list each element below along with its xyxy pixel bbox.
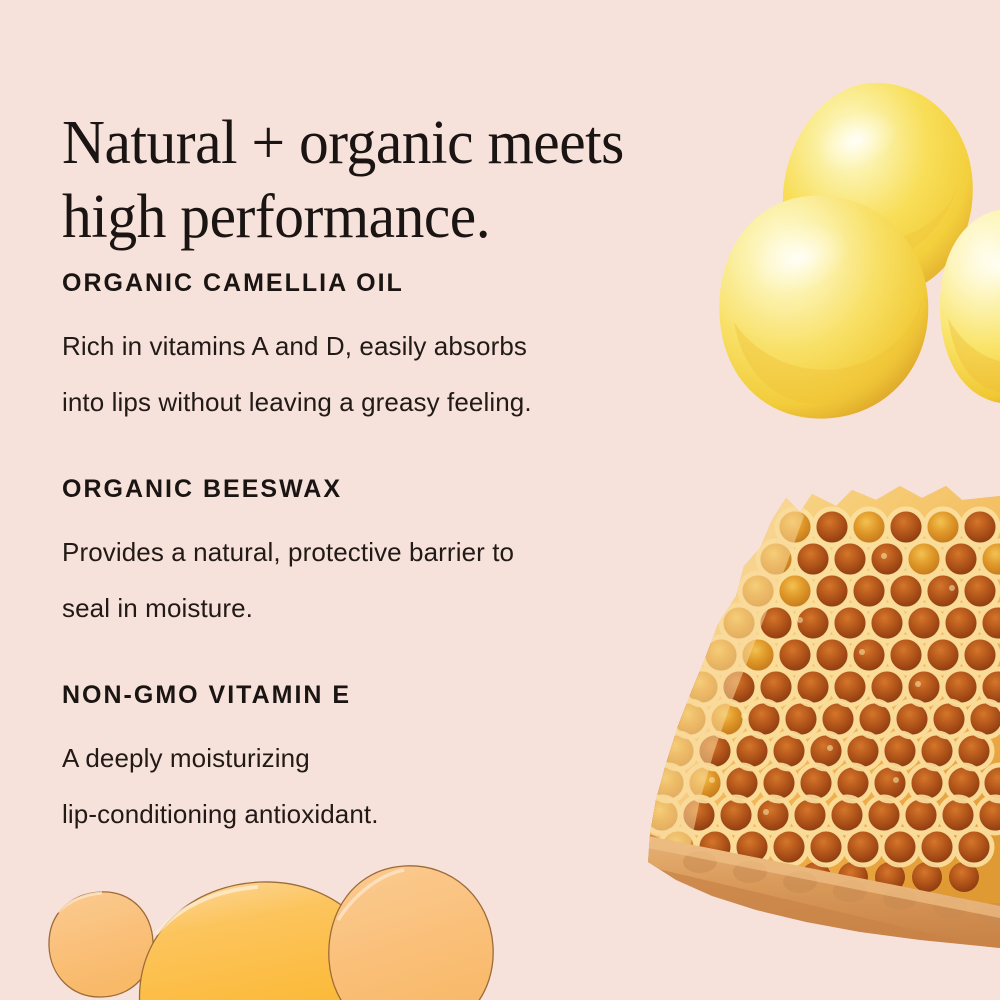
benefit-title: ORGANIC CAMELLIA OIL xyxy=(62,268,742,298)
benefit-title: NON-GMO VITAMIN E xyxy=(62,680,742,710)
content-layer: Natural + organic meets high performance… xyxy=(0,0,1000,1000)
benefit-item-vitamin-e: NON-GMO VITAMIN E A deeply moisturizing … xyxy=(62,680,742,842)
benefit-description-line: into lips without leaving a greasy feeli… xyxy=(62,374,742,430)
page-title: Natural + organic meets high performance… xyxy=(62,106,734,254)
benefit-description-line: Provides a natural, protective barrier t… xyxy=(62,524,742,580)
benefit-title: ORGANIC BEESWAX xyxy=(62,474,742,504)
benefit-description-line: A deeply moisturizing xyxy=(62,730,742,786)
benefit-item-camellia-oil: ORGANIC CAMELLIA OIL Rich in vitamins A … xyxy=(62,268,742,430)
promo-canvas: Natural + organic meets high performance… xyxy=(0,0,1000,1000)
benefits-list: ORGANIC CAMELLIA OIL Rich in vitamins A … xyxy=(62,268,742,842)
benefit-description-line: lip-conditioning antioxidant. xyxy=(62,786,742,842)
benefit-description-line: seal in moisture. xyxy=(62,580,742,636)
benefit-item-beeswax: ORGANIC BEESWAX Provides a natural, prot… xyxy=(62,474,742,636)
benefit-description-line: Rich in vitamins A and D, easily absorbs xyxy=(62,318,742,374)
